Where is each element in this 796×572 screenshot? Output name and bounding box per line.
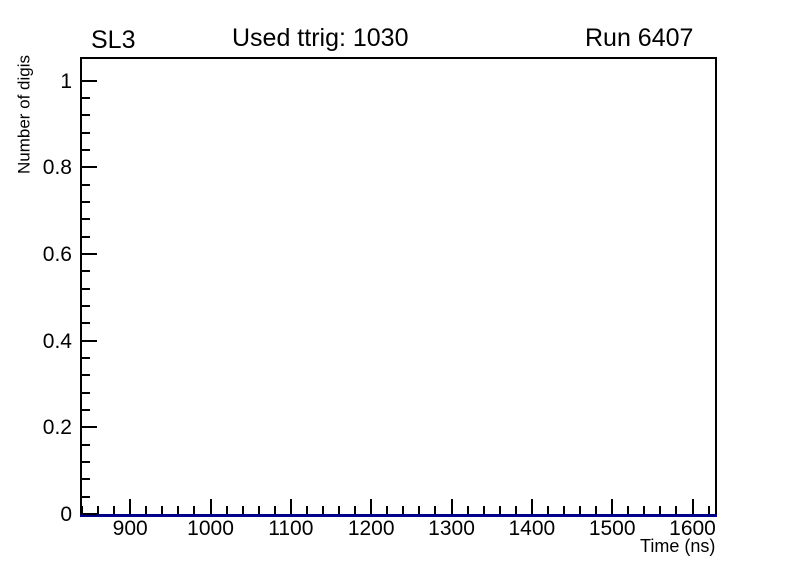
y-tick-major: [82, 253, 97, 255]
y-tick-major: [82, 340, 97, 342]
x-tick-minor: [515, 506, 517, 514]
x-tick-minor: [226, 506, 228, 514]
y-tick-minor: [82, 461, 90, 463]
y-tick-minor: [82, 236, 90, 238]
x-tick-minor: [402, 506, 404, 514]
x-tick-label: 1100: [251, 518, 331, 539]
x-tick-minor: [338, 506, 340, 514]
y-tick-minor: [82, 97, 90, 99]
x-tick-major: [692, 499, 694, 514]
y-tick-minor: [82, 218, 90, 220]
x-tick-minor: [579, 506, 581, 514]
y-tick-minor: [82, 184, 90, 186]
y-tick-major: [82, 426, 97, 428]
y-tick-label: 0.2: [12, 417, 72, 438]
x-tick-major: [370, 499, 372, 514]
x-tick-minor: [563, 506, 565, 514]
x-tick-major: [210, 499, 212, 514]
x-tick-minor: [418, 506, 420, 514]
chart-title: Used ttrig: 1030: [232, 24, 409, 52]
run-label: Run 6407: [585, 24, 693, 52]
x-tick-major: [611, 499, 613, 514]
x-tick-minor: [145, 506, 147, 514]
x-tick-minor: [177, 506, 179, 514]
root-canvas: SL3 Used ttrig: 1030 Run 6407 9001000110…: [0, 0, 796, 572]
x-axis-title: Time (ns): [640, 537, 715, 555]
y-tick-minor: [82, 288, 90, 290]
x-tick-minor: [434, 506, 436, 514]
y-tick-minor: [82, 374, 90, 376]
y-tick-minor: [82, 444, 90, 446]
x-tick-minor: [499, 506, 501, 514]
x-tick-minor: [643, 506, 645, 514]
x-tick-minor: [386, 506, 388, 514]
y-tick-minor: [82, 392, 90, 394]
x-tick-minor: [193, 506, 195, 514]
y-tick-minor: [82, 201, 90, 203]
x-tick-minor: [595, 506, 597, 514]
x-tick-minor: [306, 506, 308, 514]
x-tick-minor: [354, 506, 356, 514]
x-tick-major: [129, 499, 131, 514]
x-tick-minor: [242, 506, 244, 514]
x-tick-major: [451, 499, 453, 514]
y-tick-major: [82, 166, 97, 168]
y-tick-label: 0.4: [12, 331, 72, 352]
y-tick-minor: [82, 132, 90, 134]
x-tick-minor: [659, 506, 661, 514]
y-tick-minor: [82, 322, 90, 324]
y-tick-major: [82, 80, 97, 82]
superlayer-label: SL3: [91, 26, 135, 54]
x-tick-label: 1300: [412, 518, 492, 539]
y-tick-major: [82, 513, 97, 515]
y-tick-label: 0.6: [12, 244, 72, 265]
x-tick-label: 1400: [492, 518, 572, 539]
x-tick-major: [531, 499, 533, 514]
x-tick-minor: [113, 506, 115, 514]
x-tick-minor: [627, 506, 629, 514]
x-tick-label: 1000: [171, 518, 251, 539]
x-tick-major: [290, 499, 292, 514]
y-tick-minor: [82, 478, 90, 480]
y-tick-minor: [82, 357, 90, 359]
x-tick-minor: [274, 506, 276, 514]
y-tick-minor: [82, 114, 90, 116]
x-tick-minor: [547, 506, 549, 514]
x-tick-label: 900: [90, 518, 170, 539]
y-tick-minor: [82, 496, 90, 498]
x-tick-minor: [322, 506, 324, 514]
x-tick-minor: [467, 506, 469, 514]
y-tick-minor: [82, 409, 90, 411]
x-tick-minor: [708, 506, 710, 514]
y-tick-minor: [82, 305, 90, 307]
x-tick-minor: [161, 506, 163, 514]
y-axis-title: Number of digis: [16, 35, 33, 195]
x-tick-minor: [258, 506, 260, 514]
y-tick-minor: [82, 149, 90, 151]
y-tick-minor: [82, 270, 90, 272]
x-tick-label: 1200: [331, 518, 411, 539]
y-tick-label: 0: [12, 504, 72, 525]
x-tick-minor: [675, 506, 677, 514]
plot-frame: [80, 57, 717, 516]
x-tick-minor: [97, 506, 99, 514]
x-tick-minor: [483, 506, 485, 514]
